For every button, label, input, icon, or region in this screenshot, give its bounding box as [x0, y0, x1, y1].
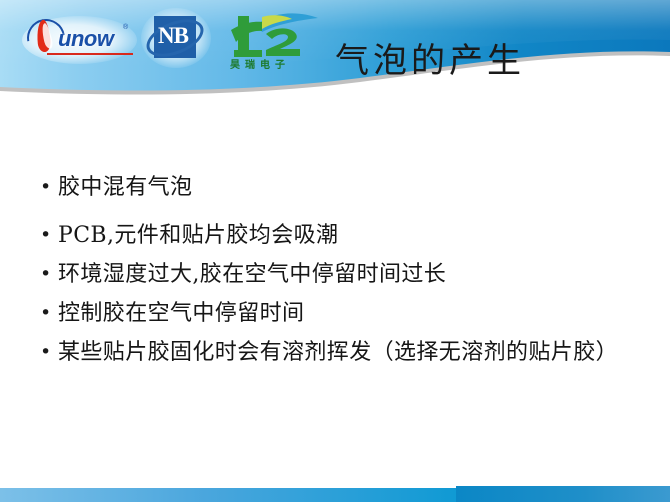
list-item: • 控制胶在空气中停留时间: [36, 298, 644, 329]
sunow-wordmark: unow: [58, 26, 113, 52]
haorui-electronics-logo: 昊瑞电子: [228, 12, 320, 74]
list-item-text: 胶中混有气泡: [58, 172, 644, 203]
list-item: • 某些贴片胶固化时会有溶剂挥发（选择无溶剂的贴片胶）: [36, 337, 644, 368]
footer-bar: [0, 486, 670, 502]
page-title: 气泡的产生: [335, 33, 625, 82]
footer-bar-left-segment: [0, 488, 456, 502]
list-item: • 胶中混有气泡: [36, 172, 644, 203]
list-item-text: 某些贴片胶固化时会有溶剂挥发（选择无溶剂的贴片胶）: [58, 337, 644, 368]
sunow-logo: unow ®: [22, 16, 137, 64]
registered-mark-icon: ®: [123, 24, 128, 31]
bullet-icon: •: [36, 337, 58, 367]
list-item: • 环境湿度过大,胶在空气中停留时间过长: [36, 259, 644, 290]
slide-canvas: unow ® NB 昊瑞电子 气泡的产生 •: [0, 0, 670, 502]
haorui-wordmark-cn: 昊瑞电子: [230, 56, 290, 71]
haorui-h2-icon: [228, 12, 320, 58]
nb-letters: NB: [158, 23, 188, 49]
list-item-text: PCB,元件和贴片胶均会吸潮: [58, 220, 644, 251]
bullet-icon: •: [36, 298, 58, 328]
sunow-rule: [47, 53, 133, 55]
list-item: • PCB,元件和贴片胶均会吸潮: [36, 220, 644, 251]
bullet-icon: •: [36, 172, 58, 202]
bullet-icon: •: [36, 220, 58, 250]
nb-logo: NB: [145, 12, 207, 64]
footer-bar-right-segment: [456, 486, 670, 502]
list-item-text: 环境湿度过大,胶在空气中停留时间过长: [58, 259, 644, 290]
bullet-list: • 胶中混有气泡 • PCB,元件和贴片胶均会吸潮 • 环境湿度过大,胶在空气中…: [36, 172, 644, 374]
list-item-text: 控制胶在空气中停留时间: [58, 298, 644, 329]
bullet-icon: •: [36, 259, 58, 289]
